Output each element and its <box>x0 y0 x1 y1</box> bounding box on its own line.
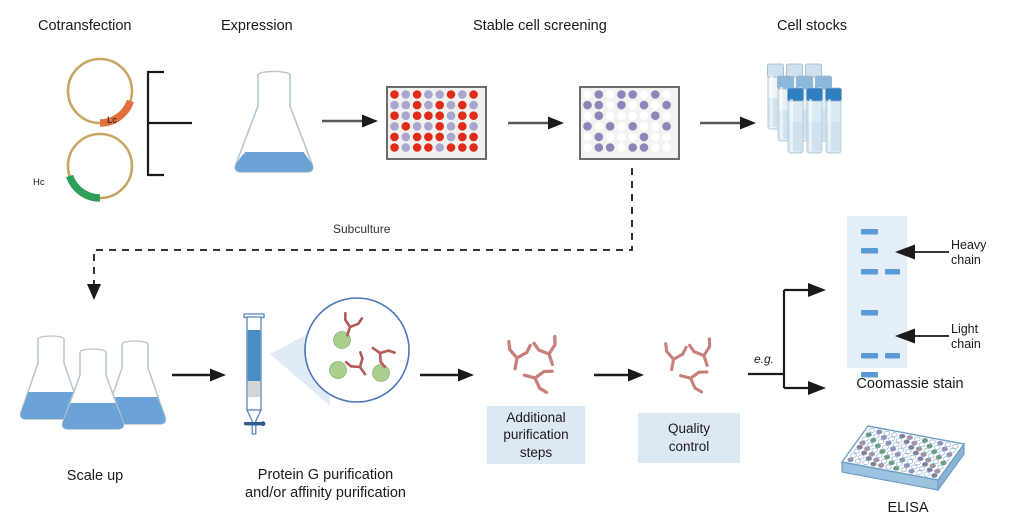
elisa-well <box>901 468 907 472</box>
gel-band-sample <box>885 269 900 275</box>
plate-well <box>651 133 660 142</box>
elisa-well <box>863 461 869 465</box>
elisa-well <box>848 458 854 462</box>
plate-well <box>435 122 444 131</box>
header-expression: Expression <box>221 18 293 34</box>
plate-well <box>595 90 604 99</box>
plate-well <box>390 90 399 99</box>
plate-well <box>640 90 649 99</box>
elisa-well <box>881 435 887 439</box>
antibody-group-qc <box>645 330 740 400</box>
elisa-well <box>877 454 883 458</box>
elisa-well <box>921 452 927 456</box>
annotation-line-2: chain <box>951 337 981 352</box>
plate-well <box>595 101 604 110</box>
plate-well <box>595 111 604 120</box>
elisa-well <box>916 471 922 475</box>
plate-well <box>424 90 433 99</box>
arrow-expression-to-screening <box>322 113 380 129</box>
elisa-well <box>883 445 889 449</box>
antibody-molecule <box>522 365 553 393</box>
plate-well <box>402 122 411 131</box>
arrow-column-to-purification <box>420 367 476 383</box>
elisa-well <box>953 444 959 448</box>
elisa-well <box>944 457 950 461</box>
gel-band-ladder <box>861 229 878 235</box>
plate-well <box>424 111 433 120</box>
elisa-well <box>912 465 918 469</box>
plate-well <box>640 143 649 152</box>
plate-well <box>662 90 671 99</box>
elisa-well <box>889 437 895 441</box>
elisa-well <box>893 443 899 447</box>
plate-well <box>628 101 637 110</box>
plate-well <box>628 133 637 142</box>
elisa-well <box>922 462 928 466</box>
elisa-well <box>901 444 907 448</box>
antibody-molecule <box>504 342 530 371</box>
step-line-1: Quality <box>668 420 710 438</box>
column-resin <box>248 381 261 397</box>
elisa-well <box>945 443 951 447</box>
elisa-well <box>910 455 916 459</box>
plate-well <box>413 90 422 99</box>
elisa-well <box>904 440 910 444</box>
plate-well <box>458 90 467 99</box>
caption-purification-line2: and/or affinity purification <box>198 484 453 502</box>
elisa-well <box>947 453 953 457</box>
elisa-well <box>916 447 922 451</box>
elisa-well <box>913 451 919 455</box>
plate-well <box>595 143 604 152</box>
plate-well <box>662 111 671 120</box>
plasmid-bracket <box>146 70 196 180</box>
elisa-well <box>858 455 864 459</box>
plate-well <box>583 122 592 131</box>
elisa-well <box>878 440 884 444</box>
elisa-well <box>927 468 933 472</box>
plate-well <box>390 111 399 120</box>
elisa-well <box>934 445 940 449</box>
elisa-well <box>896 438 902 442</box>
elisa-well <box>887 451 893 455</box>
elisa-well <box>919 466 925 470</box>
elisa-well <box>864 447 870 451</box>
annotation-heavy-chain: Heavy chain <box>951 238 986 269</box>
plate-well <box>413 122 422 131</box>
plate-well <box>469 122 478 131</box>
elisa-well <box>851 454 857 458</box>
plate-well <box>390 101 399 110</box>
elisa-well <box>915 437 921 441</box>
elisa-well <box>873 434 879 438</box>
elisa-well <box>854 449 860 453</box>
elisa-well <box>930 440 936 444</box>
plate-well <box>402 101 411 110</box>
magnifier-ring <box>305 298 409 402</box>
elisa-well <box>874 458 880 462</box>
elisa-well <box>899 434 905 438</box>
step-line-1: Additional <box>503 409 568 427</box>
elisa-well <box>938 465 944 469</box>
arrow-heavy-chain <box>895 244 951 260</box>
arrow-screening-to-selection <box>508 115 566 131</box>
plate-well <box>424 122 433 131</box>
elisa-well <box>907 459 913 463</box>
antibody-group-purified <box>487 328 587 400</box>
elisa-well <box>896 462 902 466</box>
plate-well <box>435 90 444 99</box>
plasmid-label-hc: Hc <box>33 177 45 188</box>
header-stable-cell-screening: Stable cell screening <box>473 18 607 34</box>
arrow-scaleup-to-column <box>172 367 228 383</box>
plate-well <box>606 111 615 120</box>
elisa-well <box>869 452 875 456</box>
annotation-line-2: chain <box>951 253 986 268</box>
plate-well <box>402 111 411 120</box>
plate-well <box>424 143 433 152</box>
plate-well <box>447 122 456 131</box>
elisa-well <box>934 469 940 473</box>
elisa-well <box>928 454 934 458</box>
plate-well <box>583 111 592 120</box>
header-cotransfection: Cotransfection <box>38 18 132 34</box>
plate-well <box>447 133 456 142</box>
elisa-well <box>931 473 937 477</box>
elisa-well <box>889 461 895 465</box>
eg-label: e.g. <box>754 352 774 366</box>
plate-well <box>458 122 467 131</box>
plate-well <box>435 111 444 120</box>
branch-upper-arrowhead <box>808 283 826 297</box>
plate-well <box>662 101 671 110</box>
gel-band-ladder <box>861 310 878 316</box>
subculture-label: Subculture <box>333 222 390 236</box>
elisa-well <box>867 442 873 446</box>
elisa-well <box>922 438 928 442</box>
header-cell-stocks: Cell stocks <box>777 18 847 34</box>
annotation-light-chain: Light chain <box>951 322 981 353</box>
step-line-2: purification <box>503 426 568 444</box>
plate-well <box>651 143 660 152</box>
elisa-well <box>902 454 908 458</box>
plate-well <box>447 143 456 152</box>
plate-well <box>413 111 422 120</box>
elisa-well <box>915 461 921 465</box>
plate-well <box>617 111 626 120</box>
elisa-well <box>927 444 933 448</box>
elisa-well <box>872 448 878 452</box>
elisa-well <box>878 463 884 467</box>
plate-well <box>617 133 626 142</box>
affinity-bead <box>373 365 390 382</box>
elisa-well <box>941 461 947 465</box>
step-line-3: steps <box>503 444 568 462</box>
plate-well <box>583 143 592 152</box>
plate-well <box>390 122 399 131</box>
caption-scale-up: Scale up <box>20 468 170 484</box>
plate-well <box>651 90 660 99</box>
elisa-well <box>857 445 863 449</box>
elisa-well <box>892 433 898 437</box>
plate-well <box>606 133 615 142</box>
plate-well <box>413 143 422 152</box>
plate-well <box>583 101 592 110</box>
elisa-well <box>904 464 910 468</box>
plate-well <box>606 101 615 110</box>
gel-background <box>847 216 907 368</box>
gel-band-ladder <box>861 269 878 275</box>
plate-well <box>651 111 660 120</box>
elisa-well <box>919 443 925 447</box>
elisa-well <box>942 447 948 451</box>
plate-well <box>458 143 467 152</box>
plate-well <box>447 90 456 99</box>
elisa-well <box>909 469 915 473</box>
elisa-well <box>939 451 945 455</box>
arrow-selection-to-stocks <box>700 115 758 131</box>
plate-well <box>628 111 637 120</box>
plate-well <box>583 133 592 142</box>
elisa-well <box>890 447 896 451</box>
elisa-well <box>933 459 939 463</box>
plate-well <box>447 101 456 110</box>
cryovial <box>787 88 803 153</box>
plate-well <box>458 133 467 142</box>
plasmid-light-chain <box>45 55 155 127</box>
plate-well <box>447 111 456 120</box>
plate-well <box>651 122 660 131</box>
coomassie-gel <box>847 216 907 368</box>
caption-coomassie-stain: Coomassie stain <box>815 376 1005 392</box>
plate-well <box>640 133 649 142</box>
plate-well <box>617 122 626 131</box>
elisa-well <box>931 450 937 454</box>
plate-well <box>583 90 592 99</box>
plate-well <box>413 133 422 142</box>
gel-band-ladder <box>861 248 878 254</box>
elisa-well <box>884 455 890 459</box>
plate-well <box>402 133 411 142</box>
plate-well <box>595 122 604 131</box>
elisa-well <box>950 448 956 452</box>
scale-up-flasks <box>18 330 173 430</box>
step-additional-purification[interactable]: Additional purification steps <box>487 406 585 464</box>
elisa-well <box>924 448 930 452</box>
antibody-molecule <box>661 344 686 372</box>
elisa-well <box>893 466 899 470</box>
plate-well <box>640 111 649 120</box>
elisa-well <box>866 456 872 460</box>
elisa-well <box>898 448 904 452</box>
elisa-well <box>866 433 872 437</box>
plate-well <box>662 143 671 152</box>
screening-plate-1 <box>386 86 487 160</box>
elisa-well <box>895 452 901 456</box>
plate-well <box>640 122 649 131</box>
elisa-well <box>863 437 869 441</box>
caption-elisa: ELISA <box>838 500 978 516</box>
plate-well <box>424 133 433 142</box>
plate-well <box>628 143 637 152</box>
plate-well <box>469 101 478 110</box>
elisa-well <box>899 458 905 462</box>
arrow-light-chain <box>895 328 951 344</box>
cryovial <box>806 88 822 153</box>
expression-flask <box>228 66 320 176</box>
arrow-purification-to-qc <box>594 367 646 383</box>
affinity-bead <box>330 362 347 379</box>
elisa-well <box>918 457 924 461</box>
antibody-molecule <box>534 337 563 368</box>
plate-well <box>617 143 626 152</box>
elisa-plate <box>838 418 978 496</box>
gel-band-sample <box>885 353 900 359</box>
plasmid-label-lc: Lc <box>107 115 117 126</box>
plate-well <box>651 101 660 110</box>
elisa-well <box>875 444 881 448</box>
plate-well <box>469 90 478 99</box>
plate-well <box>469 143 478 152</box>
step-quality-control[interactable]: Quality control <box>638 413 740 463</box>
antibody-molecule <box>678 366 707 392</box>
elisa-well <box>892 457 898 461</box>
elisa-well <box>907 436 913 440</box>
plate-well <box>424 101 433 110</box>
subculture-dashed-path <box>84 168 644 308</box>
elisa-well <box>870 438 876 442</box>
screening-plate-2 <box>579 86 680 160</box>
plate-well <box>469 111 478 120</box>
stopcock-knob <box>261 421 266 426</box>
plate-well <box>390 143 399 152</box>
plate-well <box>640 101 649 110</box>
elisa-well <box>937 441 943 445</box>
cell-stock-vials <box>762 60 872 170</box>
workflow-diagram: Cotransfection Expression Stable cell sc… <box>0 0 1014 526</box>
elisa-well <box>876 430 882 434</box>
elisa-well <box>860 441 866 445</box>
elisa-well <box>886 465 892 469</box>
elisa-well <box>884 431 890 435</box>
gel-band-ladder <box>861 353 878 359</box>
caption-purification-line1: Protein G purification <box>198 466 453 484</box>
plate-well <box>617 90 626 99</box>
annotation-line-1: Light <box>951 322 981 337</box>
dashed-arrowhead <box>87 284 101 300</box>
plate-well <box>458 111 467 120</box>
elisa-well <box>855 459 861 463</box>
cryovial <box>825 88 841 153</box>
plate-well <box>662 133 671 142</box>
plate-well <box>413 101 422 110</box>
annotation-line-1: Heavy <box>951 238 986 253</box>
plate-well <box>606 122 615 131</box>
plate-well <box>469 133 478 142</box>
caption-purification: Protein G purification and/or affinity p… <box>198 466 453 502</box>
plate-well <box>390 133 399 142</box>
magnifier-circle <box>302 295 412 405</box>
antibody-molecule <box>690 339 717 369</box>
plate-well <box>595 133 604 142</box>
elisa-well <box>905 450 911 454</box>
elisa-well <box>869 428 875 432</box>
elisa-well <box>936 455 942 459</box>
plate-well <box>402 90 411 99</box>
column-buffer <box>248 330 261 381</box>
elisa-well <box>908 445 914 449</box>
plate-well <box>606 90 615 99</box>
plate-well <box>617 101 626 110</box>
elisa-well <box>925 458 931 462</box>
elisa-well <box>880 449 886 453</box>
elisa-well <box>924 472 930 476</box>
plate-well <box>606 143 615 152</box>
plate-well <box>628 90 637 99</box>
plate-well <box>662 122 671 131</box>
plate-well <box>435 133 444 142</box>
elisa-well <box>871 462 877 466</box>
elisa-well <box>930 464 936 468</box>
elisa-well <box>912 441 918 445</box>
plate-well <box>628 122 637 131</box>
elisa-well <box>886 441 892 445</box>
plate-well <box>435 143 444 152</box>
step-line-2: control <box>668 438 710 456</box>
plate-well <box>435 101 444 110</box>
elisa-well <box>881 459 887 463</box>
plate-well <box>458 101 467 110</box>
plate-well <box>402 143 411 152</box>
elisa-well <box>861 451 867 455</box>
